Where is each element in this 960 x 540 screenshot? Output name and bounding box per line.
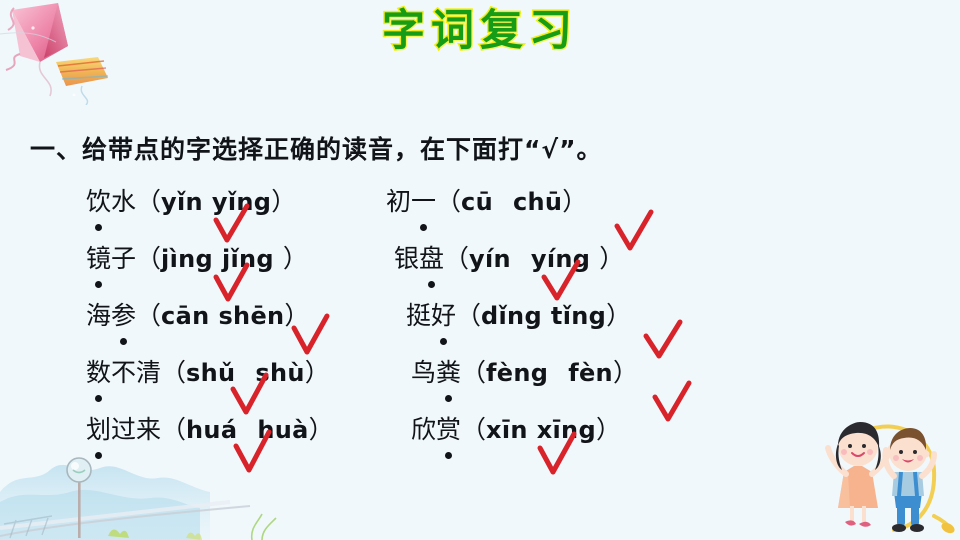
dotted-character: 饮 bbox=[86, 182, 111, 222]
dotted-character: 好 bbox=[431, 296, 456, 336]
streetlamp-icon bbox=[67, 458, 91, 538]
pinyin-option-a[interactable]: fèng bbox=[486, 359, 548, 387]
exercise-item-9[interactable]: 鸟粪（fèngfèn） bbox=[411, 353, 638, 393]
word-prefix: 鸟 bbox=[411, 358, 436, 387]
exercise-item-8[interactable]: 挺好（dǐngtǐng） bbox=[406, 296, 631, 336]
pinyin-option-a[interactable]: cū bbox=[461, 188, 493, 216]
word-remainder: 过来 bbox=[111, 415, 161, 444]
exercise-row: 海参（cānshēn） 挺好（dǐngtǐng） bbox=[86, 296, 786, 353]
exercise-item-3[interactable]: 海参（cānshēn） bbox=[86, 296, 309, 336]
dotted-character: 镜 bbox=[86, 239, 111, 279]
word-prefix: 初 bbox=[386, 187, 411, 216]
word-prefix: 银 bbox=[394, 244, 419, 273]
page-title: 字词复习 bbox=[382, 8, 578, 55]
pinyin-option-b[interactable]: chū bbox=[513, 188, 562, 216]
dotted-character: 粪 bbox=[436, 353, 461, 393]
open-paren: （ bbox=[136, 301, 161, 330]
exercise-row: 数不清（shǔshù） 鸟粪（fèngfèn） bbox=[86, 353, 786, 410]
word-remainder: 水 bbox=[111, 187, 136, 216]
dotted-character: 参 bbox=[111, 296, 136, 336]
exercise-item-5[interactable]: 划过来（huáhuà） bbox=[86, 410, 334, 450]
slide-canvas: 字词复习 一、给带点的字选择正确的读音，在下面打“√”。 饮水（yǐnyǐng）… bbox=[0, 0, 960, 540]
open-paren: （ bbox=[461, 358, 486, 387]
word-remainder: 子 bbox=[111, 244, 136, 273]
dotted-character: 盘 bbox=[419, 239, 444, 279]
exercise-item-1[interactable]: 饮水（yǐnyǐng） bbox=[86, 182, 296, 222]
children-jump-rope-illustration bbox=[798, 408, 958, 538]
dotted-character: 划 bbox=[86, 410, 111, 450]
close-paren: ） bbox=[305, 358, 330, 387]
exercise-row: 饮水（yǐnyǐng） 初一（cūchū） bbox=[86, 182, 786, 239]
open-paren: （ bbox=[456, 301, 481, 330]
word-prefix: 挺 bbox=[406, 301, 431, 330]
close-paren: ） bbox=[596, 415, 621, 444]
pinyin-option-b[interactable]: fèn bbox=[568, 359, 613, 387]
open-paren: （ bbox=[136, 187, 161, 216]
open-paren: （ bbox=[161, 415, 186, 444]
pinyin-option-a[interactable]: jìng bbox=[161, 245, 213, 273]
open-paren: （ bbox=[136, 244, 161, 273]
exercise-item-10[interactable]: 欣赏（xīnxīng） bbox=[411, 410, 621, 450]
exercise-row: 镜子（jìngjǐng） 银盘（yínyíng） bbox=[86, 239, 786, 296]
open-paren: （ bbox=[461, 415, 486, 444]
dotted-character: 数 bbox=[86, 353, 111, 393]
dotted-character: 一 bbox=[411, 182, 436, 222]
checkmark-icon bbox=[536, 434, 580, 478]
close-paren: ） bbox=[309, 415, 334, 444]
close-paren: ） bbox=[562, 187, 587, 216]
word-remainder: 不清 bbox=[111, 358, 161, 387]
pinyin-option-a[interactable]: yǐn bbox=[161, 188, 203, 216]
close-paren: ） bbox=[271, 187, 296, 216]
pinyin-option-a[interactable]: xīn bbox=[486, 416, 528, 444]
pinyin-option-a[interactable]: cān bbox=[161, 302, 209, 330]
exercise-item-4[interactable]: 数不清（shǔshù） bbox=[86, 353, 330, 393]
dotted-character: 赏 bbox=[436, 410, 461, 450]
exercise-row: 划过来（huáhuà） 欣赏（xīnxīng） bbox=[86, 410, 786, 467]
word-prefix: 欣 bbox=[411, 415, 436, 444]
close-paren: ） bbox=[599, 244, 624, 273]
instruction-text: 一、给带点的字选择正确的读音，在下面打“√”。 bbox=[30, 130, 603, 166]
close-paren: ） bbox=[606, 301, 631, 330]
pinyin-option-a[interactable]: shǔ bbox=[186, 359, 235, 387]
boy-figure bbox=[885, 428, 934, 532]
exercise-item-2[interactable]: 镜子（jìngjǐng） bbox=[86, 239, 308, 279]
exercise-item-7[interactable]: 银盘（yínyíng） bbox=[394, 239, 624, 279]
pinyin-option-b[interactable]: tǐng bbox=[551, 302, 606, 330]
close-paren: ） bbox=[613, 358, 638, 387]
pinyin-option-b[interactable]: shēn bbox=[218, 302, 284, 330]
exercise-list: 饮水（yǐnyǐng） 初一（cūchū） 镜子（jìngjǐng） 银盘（yí… bbox=[86, 182, 786, 467]
checkmark-icon bbox=[232, 432, 276, 476]
exercise-item-6[interactable]: 初一（cūchū） bbox=[386, 182, 587, 222]
pinyin-option-a[interactable]: huá bbox=[186, 416, 237, 444]
title-container: 字词复习 bbox=[0, 8, 960, 55]
pinyin-option-a[interactable]: dǐng bbox=[481, 302, 542, 330]
close-paren: ） bbox=[283, 244, 308, 273]
open-paren: （ bbox=[436, 187, 461, 216]
open-paren: （ bbox=[161, 358, 186, 387]
girl-figure bbox=[828, 422, 891, 527]
open-paren: （ bbox=[444, 244, 469, 273]
word-prefix: 海 bbox=[86, 301, 111, 330]
pinyin-option-a[interactable]: yín bbox=[469, 245, 511, 273]
